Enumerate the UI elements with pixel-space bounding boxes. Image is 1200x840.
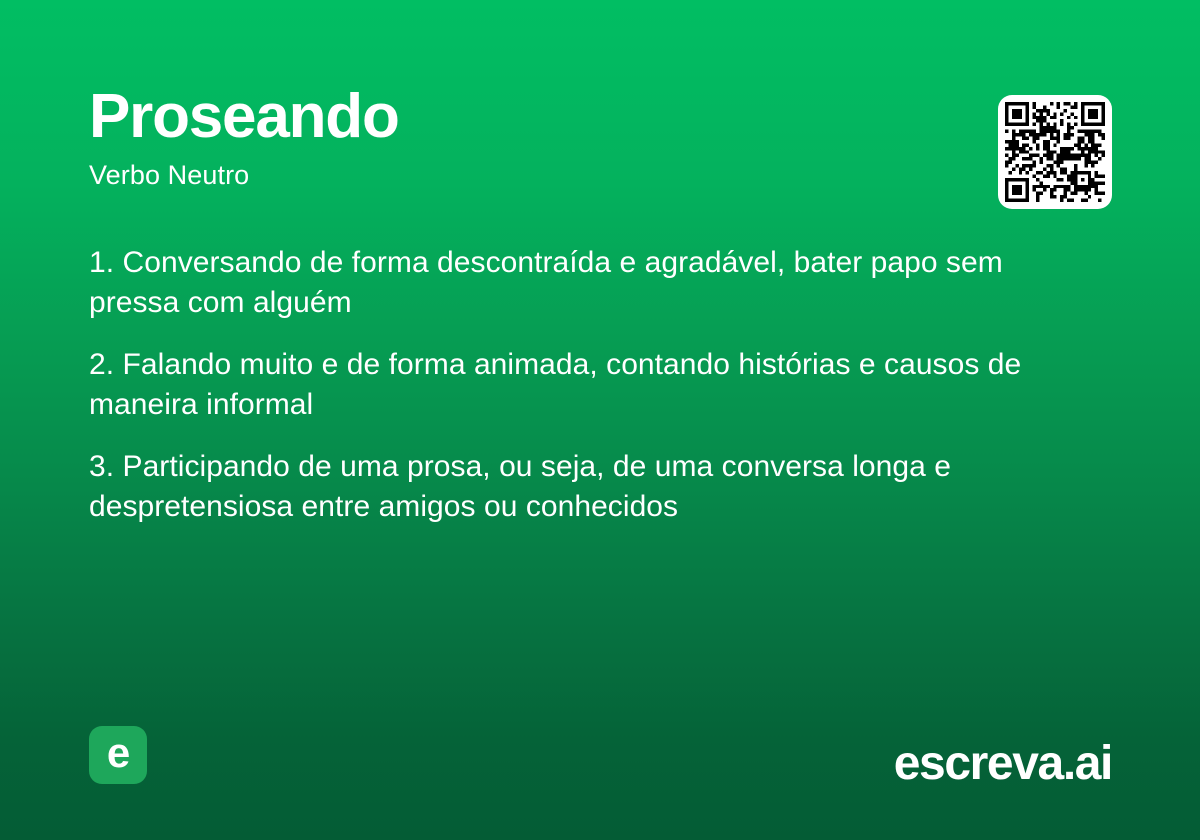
definition-item: 2. Falando muito e de forma animada, con… (89, 345, 1099, 424)
definition-card: Proseando Verbo Neutro 1. Conversando de… (0, 0, 1200, 840)
word-class-subtitle: Verbo Neutro (89, 162, 1112, 189)
page-title: Proseando (89, 86, 1112, 148)
definition-item: 3. Participando de uma prosa, ou seja, d… (89, 447, 1099, 526)
definition-item: 1. Conversando de forma descontraída e a… (89, 243, 1099, 322)
brand-wordmark: escreva.ai (894, 740, 1112, 788)
qr-code-icon (1005, 102, 1105, 202)
escreva-logo-tile[interactable]: e (89, 726, 147, 784)
logo-letter: e (107, 732, 129, 774)
qr-code[interactable] (998, 95, 1112, 209)
definition-list: 1. Conversando de forma descontraída e a… (89, 243, 1099, 527)
card-header: Proseando Verbo Neutro (89, 86, 1112, 216)
